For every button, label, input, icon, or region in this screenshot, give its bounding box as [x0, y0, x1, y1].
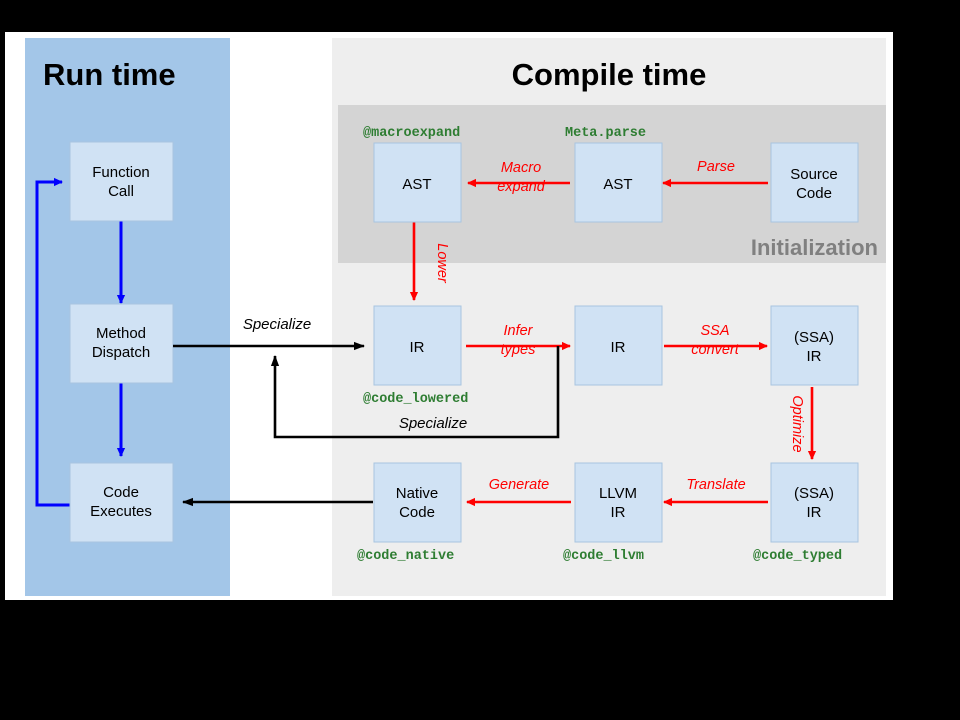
macro-label-code-typed: @code_typed [753, 549, 842, 564]
edge-label-optimize: Optimize [789, 395, 805, 452]
compile-box-llvm-ir-line1: LLVM [599, 485, 637, 502]
compile-panel-title: Compile time [512, 57, 707, 92]
compile-box-ir-lowered[interactable]: IR [374, 306, 461, 385]
runtime-panel-title: Run time [43, 57, 176, 92]
compile-box-ssa-ir-top-line1: (SSA) [794, 329, 834, 346]
edge-label-ssa-convert-line2: convert [691, 342, 740, 358]
compile-box-native-code-line2: Code [399, 504, 435, 521]
compile-box-ir-lowered-label: IR [410, 339, 425, 356]
compile-box-ir-inferred[interactable]: IR [575, 306, 662, 385]
compile-box-ast-expanded-label: AST [402, 176, 431, 193]
edge-label-translate: Translate [686, 477, 745, 493]
compile-box-source-code[interactable]: Source Code [771, 143, 858, 222]
macro-label-code-lowered: @code_lowered [363, 392, 468, 407]
initialization-title: Initialization [751, 235, 878, 260]
macro-label-meta-parse: Meta.parse [565, 126, 646, 141]
compile-box-llvm-ir[interactable]: LLVM IR [575, 463, 662, 542]
compile-box-ssa-ir-top-line2: IR [807, 348, 822, 365]
runtime-box-method-dispatch[interactable]: Method Dispatch [70, 304, 173, 383]
runtime-box-function-call[interactable]: Function Call [70, 142, 173, 221]
compile-box-native-code-line1: Native [396, 485, 439, 502]
compile-box-native-code[interactable]: Native Code [374, 463, 461, 542]
runtime-box-method-dispatch-line2: Dispatch [92, 344, 150, 361]
compile-box-ssa-ir-typed-line1: (SSA) [794, 485, 834, 502]
compile-box-ir-inferred-label: IR [611, 339, 626, 356]
edge-label-infer-types-line2: types [501, 342, 536, 358]
edge-label-generate: Generate [489, 477, 549, 493]
runtime-box-function-call-line1: Function [92, 164, 150, 181]
compile-box-llvm-ir-line2: IR [611, 504, 626, 521]
compile-box-source-code-line1: Source [790, 166, 838, 183]
edge-label-specialize-top: Specialize [243, 316, 311, 333]
edge-label-parse: Parse [697, 159, 735, 175]
compile-box-ssa-ir-typed[interactable]: (SSA) IR [771, 463, 858, 542]
edge-label-macro-expand-line1: Macro [501, 160, 541, 176]
macro-label-macroexpand: @macroexpand [363, 126, 460, 141]
compile-box-ssa-ir-top[interactable]: (SSA) IR [771, 306, 858, 385]
runtime-box-code-executes[interactable]: Code Executes [70, 463, 173, 542]
runtime-box-code-executes-line1: Code [103, 484, 139, 501]
diagram-canvas: Run time Compile time Initialization Fun… [5, 32, 893, 600]
compile-box-ast-parsed-label: AST [603, 176, 632, 193]
edge-label-specialize-bottom: Specialize [399, 415, 467, 432]
edge-label-lower: Lower [434, 243, 450, 284]
runtime-box-method-dispatch-line1: Method [96, 325, 146, 342]
macro-label-code-native: @code_native [357, 549, 454, 564]
runtime-box-code-executes-line2: Executes [90, 503, 152, 520]
edge-label-macro-expand-line2: expand [497, 179, 546, 195]
edge-label-infer-types-line1: Infer [503, 323, 533, 339]
runtime-box-function-call-line2: Call [108, 183, 134, 200]
compile-box-ssa-ir-typed-line2: IR [807, 504, 822, 521]
compile-box-source-code-line2: Code [796, 185, 832, 202]
macro-label-code-llvm: @code_llvm [563, 549, 644, 564]
compile-box-ast-expanded[interactable]: AST [374, 143, 461, 222]
compile-box-ast-parsed[interactable]: AST [575, 143, 662, 222]
edge-label-ssa-convert-line1: SSA [700, 323, 729, 339]
